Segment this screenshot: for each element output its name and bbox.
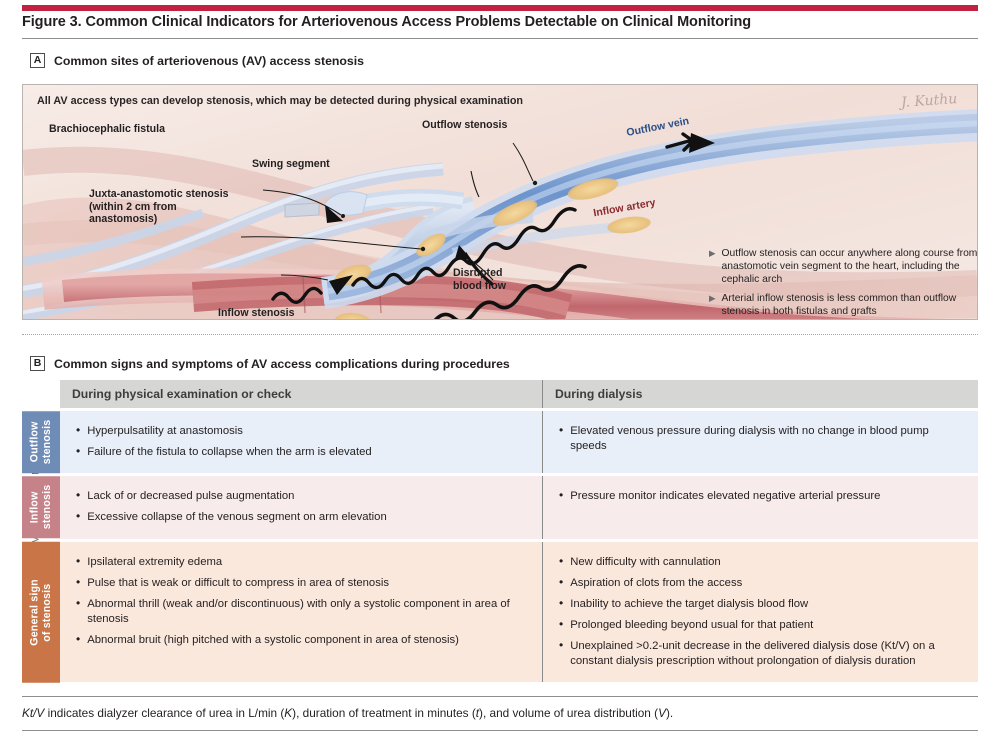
list-item: • Hyperpulsatility at anastomosis xyxy=(76,424,528,439)
triangle-bullet-icon: ▶ xyxy=(709,292,716,318)
footnote-text-f: ), and volume of urea distribution ( xyxy=(479,706,658,720)
panel-b-header: B Common signs and symptoms of AV access… xyxy=(30,356,510,371)
list-item: • Unexplained >0.2-unit decrease in the … xyxy=(559,639,964,669)
bullet-icon: • xyxy=(559,639,563,669)
complications-table: During physical examination or check Dur… xyxy=(22,380,978,682)
list-item: • Aspiration of clots from the access xyxy=(559,576,964,591)
list-item-text: Prolonged bleeding beyond usual for that… xyxy=(570,618,813,633)
footnote-v-symbol: V xyxy=(658,706,666,720)
header-spacer xyxy=(22,380,60,408)
list-item-text: Pulse that is weak or difficult to compr… xyxy=(87,576,389,591)
row-tab-general-sign-of-stenosis: General sign of stenosis xyxy=(22,542,60,683)
list-item-text: Aspiration of clots from the access xyxy=(570,576,742,591)
label-inflow-stenosis: Inflow stenosis xyxy=(218,307,295,320)
label-swing-segment: Swing segment xyxy=(252,158,330,171)
av-access-illustration: All AV access types can develop stenosis… xyxy=(22,84,978,320)
row-general-dialysis-cell: • New difficulty with cannulation • Aspi… xyxy=(542,542,978,683)
figure-title: Figure 3. Common Clinical Indicators for… xyxy=(22,14,978,30)
label-brachiocephalic-fistula: Brachiocephalic fistula xyxy=(49,123,165,136)
list-item-text: Hyperpulsatility at anastomosis xyxy=(87,424,243,439)
table-header-row: During physical examination or check Dur… xyxy=(22,380,978,408)
footnote-top-divider xyxy=(22,696,978,697)
list-item-text: Lack of or decreased pulse augmentation xyxy=(87,489,294,504)
row-outflow-exam-cell: • Hyperpulsatility at anastomosis • Fail… xyxy=(60,411,542,473)
list-item: • Ipsilateral extremity edema xyxy=(76,555,528,570)
panel-a-bullet-list: ▶ Outflow stenosis can occur anywhere al… xyxy=(709,247,978,320)
list-item: • Abnormal thrill (weak and/or discontin… xyxy=(76,597,528,627)
bullet-icon: • xyxy=(559,424,563,454)
table-row: Outflow stenosis • Hyperpulsatility at a… xyxy=(22,411,978,473)
bullet-icon: • xyxy=(559,555,563,570)
bullet-icon: • xyxy=(76,445,80,460)
row-general-exam-cell: • Ipsilateral extremity edema • Pulse th… xyxy=(60,542,542,683)
panel-a-bullet-text: Arterial inflow stenosis is less common … xyxy=(722,292,978,318)
list-item-text: Failure of the fistula to collapse when … xyxy=(87,445,371,460)
juxta-line-3: anastomosis) xyxy=(89,213,229,226)
list-item-text: Excessive collapse of the venous segment… xyxy=(87,510,387,525)
list-item: • Lack of or decreased pulse augmentatio… xyxy=(76,489,528,504)
column-header-dialysis: During dialysis xyxy=(542,380,978,408)
panel-a-bullet-text: Outflow stenosis can occur anywhere alon… xyxy=(722,247,978,287)
list-item: • Elevated venous pressure during dialys… xyxy=(559,424,964,454)
list-item: • Excessive collapse of the venous segme… xyxy=(76,510,528,525)
bullet-icon: • xyxy=(76,555,80,570)
bullet-icon: • xyxy=(559,489,563,504)
footnote-text-d: ), duration of treatment in minutes ( xyxy=(292,706,476,720)
bullet-icon: • xyxy=(559,576,563,591)
juxta-line-1: Juxta-anastomotic stenosis xyxy=(89,188,229,201)
list-item-text: Inability to achieve the target dialysis… xyxy=(570,597,808,612)
figure-page: Figure 3. Common Clinical Indicators for… xyxy=(0,0,1000,740)
label-disrupted-blood-flow: Disrupted blood flow xyxy=(453,267,506,292)
list-item: • Inability to achieve the target dialys… xyxy=(559,597,964,612)
bullet-icon: • xyxy=(76,576,80,591)
panel-a-bullet: ▶ Arterial inflow stenosis is less commo… xyxy=(709,292,978,318)
list-item-text: Abnormal bruit (high pitched with a syst… xyxy=(87,633,459,648)
label-juxta-anastomotic-stenosis: Juxta-anastomotic stenosis (within 2 cm … xyxy=(89,188,229,226)
bullet-icon: • xyxy=(559,597,563,612)
label-outflow-stenosis: Outflow stenosis xyxy=(422,119,507,132)
juxta-line-2: (within 2 cm from xyxy=(89,201,229,214)
disrupted-line-2: blood flow xyxy=(453,280,506,293)
title-divider xyxy=(22,38,978,39)
row-tab-outflow-stenosis: Outflow stenosis xyxy=(22,411,60,473)
list-item-text: Unexplained >0.2-unit decrease in the de… xyxy=(570,639,964,669)
bullet-icon: • xyxy=(76,510,80,525)
panel-a-letter: A xyxy=(30,53,45,68)
disrupted-line-1: Disrupted xyxy=(453,267,506,280)
triangle-bullet-icon: ▶ xyxy=(709,247,716,287)
row-inflow-exam-cell: • Lack of or decreased pulse augmentatio… xyxy=(60,476,542,538)
panel-a-caption: Common sites of arteriovenous (AV) acces… xyxy=(54,54,364,68)
illustration-caption: All AV access types can develop stenosis… xyxy=(37,95,523,107)
panel-divider xyxy=(22,334,978,335)
bullet-icon: • xyxy=(76,633,80,648)
panel-b-caption: Common signs and symptoms of AV access c… xyxy=(54,357,510,371)
row-inflow-dialysis-cell: • Pressure monitor indicates elevated ne… xyxy=(542,476,978,538)
top-accent-rule xyxy=(22,5,978,11)
list-item: • Pulse that is weak or difficult to com… xyxy=(76,576,528,591)
bullet-icon: • xyxy=(559,618,563,633)
footnote-k-symbol: K xyxy=(284,706,292,720)
list-item: • Abnormal bruit (high pitched with a sy… xyxy=(76,633,528,648)
list-item-text: Ipsilateral extremity edema xyxy=(87,555,222,570)
column-header-exam: During physical examination or check xyxy=(60,380,542,408)
list-item-text: Abnormal thrill (weak and/or discontinuo… xyxy=(87,597,528,627)
list-item: • Pressure monitor indicates elevated ne… xyxy=(559,489,964,504)
bullet-icon: • xyxy=(76,424,80,439)
table-row: General sign of stenosis • Ipsilateral e… xyxy=(22,542,978,683)
row-tab-inflow-stenosis: Inflow stenosis xyxy=(22,476,60,538)
list-item: • Failure of the fistula to collapse whe… xyxy=(76,445,528,460)
list-item-text: Elevated venous pressure during dialysis… xyxy=(570,424,964,454)
list-item-text: Pressure monitor indicates elevated nega… xyxy=(570,489,880,504)
panel-a-bullet: ▶ Outflow stenosis can occur anywhere al… xyxy=(709,247,978,287)
footnote-text-b: indicates dialyzer clearance of urea in … xyxy=(44,706,284,720)
list-item: • New difficulty with cannulation xyxy=(559,555,964,570)
panel-a-header: A Common sites of arteriovenous (AV) acc… xyxy=(30,53,364,68)
row-outflow-dialysis-cell: • Elevated venous pressure during dialys… xyxy=(542,411,978,473)
footnote-bottom-divider xyxy=(22,730,978,731)
list-item: • Prolonged bleeding beyond usual for th… xyxy=(559,618,964,633)
figure-footnote: Kt/V indicates dialyzer clearance of ure… xyxy=(22,706,978,720)
bullet-icon: • xyxy=(76,489,80,504)
table-row: Inflow stenosis • Lack of or decreased p… xyxy=(22,476,978,538)
footnote-text-h: ). xyxy=(666,706,673,720)
list-item-text: New difficulty with cannulation xyxy=(570,555,721,570)
footnote-ktv-symbol: Kt/V xyxy=(22,706,44,720)
panel-b-letter: B xyxy=(30,356,45,371)
bullet-icon: • xyxy=(76,597,80,627)
